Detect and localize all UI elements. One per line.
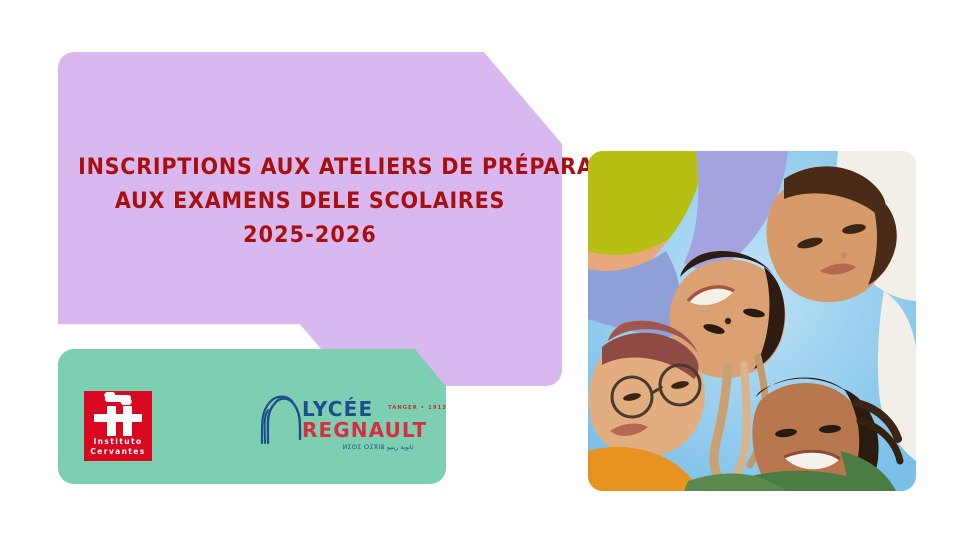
instituto-cervantes-mark-icon xyxy=(90,394,146,436)
page-title: INSCRIPTIONS AUX ATELIERS DE PRÉPARATION… xyxy=(78,150,542,252)
horizontal-bar-icon xyxy=(94,414,142,422)
headline-line-3: 2025-2026 xyxy=(78,218,542,252)
group-photo xyxy=(588,151,916,491)
moorish-arch-icon xyxy=(258,393,304,445)
instituto-cervantes-line-2: Cervantes xyxy=(90,447,145,457)
lycee-tagline: TANGER • 1913 xyxy=(388,405,447,411)
right-vertical-bar-icon xyxy=(123,406,132,436)
tilde-icon xyxy=(105,395,131,402)
instituto-cervantes-line-1: Instituto xyxy=(90,437,145,447)
headline-line-1: INSCRIPTIONS AUX ATELIERS DE PRÉPARATION xyxy=(78,150,542,184)
instituto-cervantes-logo: Instituto Cervantes xyxy=(84,391,152,461)
headline-line-2: AUX EXAMENS DELE SCOLAIRES xyxy=(78,184,542,218)
lycee-regnault-script-line: ⵍⵉⵙⵉ ⵔⵉⴳⵏⵓ ثانوية رينيو xyxy=(316,444,440,451)
group-photo-illustration xyxy=(588,151,916,491)
slide-canvas: INSCRIPTIONS AUX ATELIERS DE PRÉPARATION… xyxy=(0,0,960,540)
regnault-word: REGNAULT xyxy=(302,420,442,441)
lycee-regnault-logo: LYCÉE TANGER • 1913 REGNAULT ⵍⵉⵙⵉ ⵔⵉⴳⵏⵓ … xyxy=(258,391,438,461)
instituto-cervantes-wordmark: Instituto Cervantes xyxy=(90,437,145,457)
left-vertical-bar-icon xyxy=(107,406,116,436)
logo-row: Instituto Cervantes LYCÉE TANGER • 1913 … xyxy=(58,349,446,484)
lycee-regnault-wordmark: LYCÉE TANGER • 1913 REGNAULT xyxy=(302,399,442,441)
